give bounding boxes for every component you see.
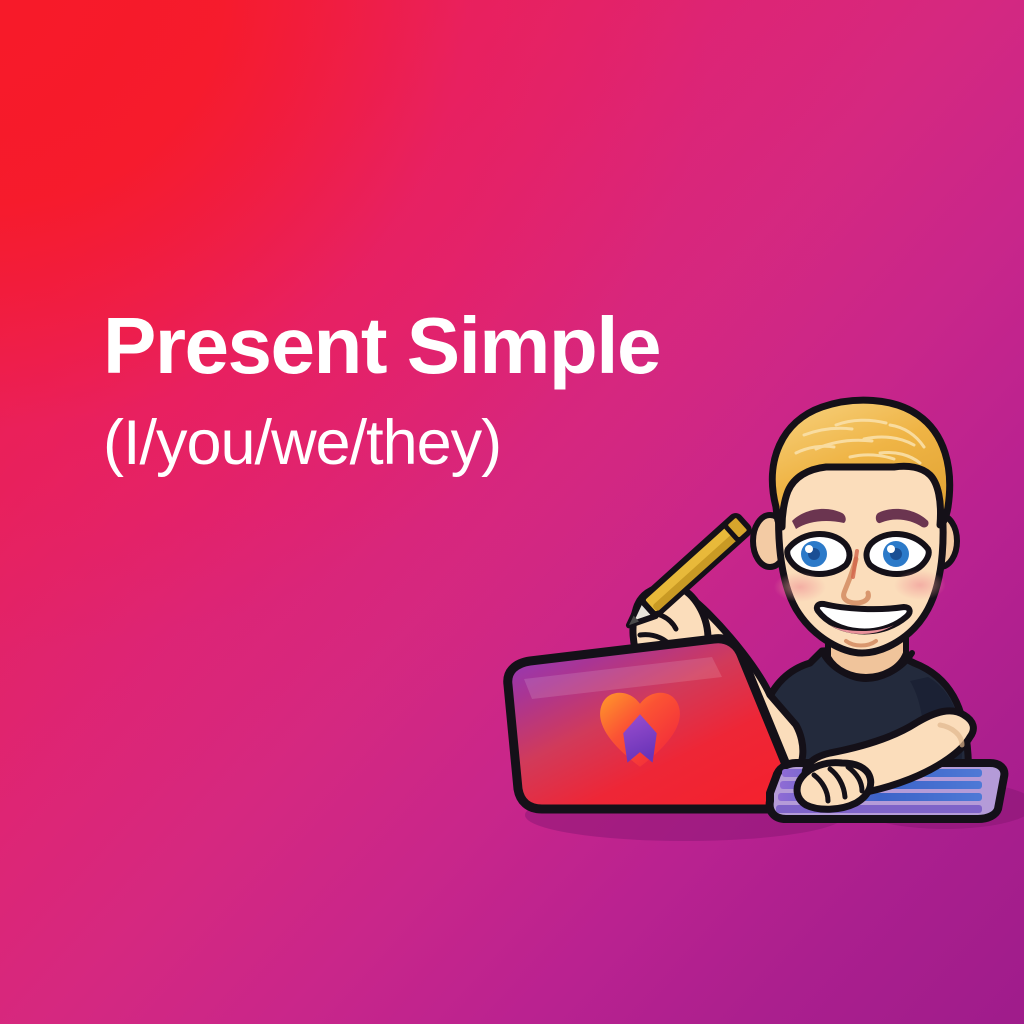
character-head bbox=[753, 400, 957, 653]
cheek-blush-left bbox=[774, 572, 826, 602]
eye-left bbox=[787, 534, 849, 574]
eye-right bbox=[867, 534, 929, 574]
illustration-cartoon-man-with-laptop bbox=[470, 395, 1024, 895]
page-title: Present Simple bbox=[103, 306, 803, 386]
slide-canvas: Present Simple (I/you/we/they) bbox=[0, 0, 1024, 1024]
cheek-blush-right bbox=[894, 570, 946, 600]
pencil-body-shade bbox=[652, 526, 747, 612]
